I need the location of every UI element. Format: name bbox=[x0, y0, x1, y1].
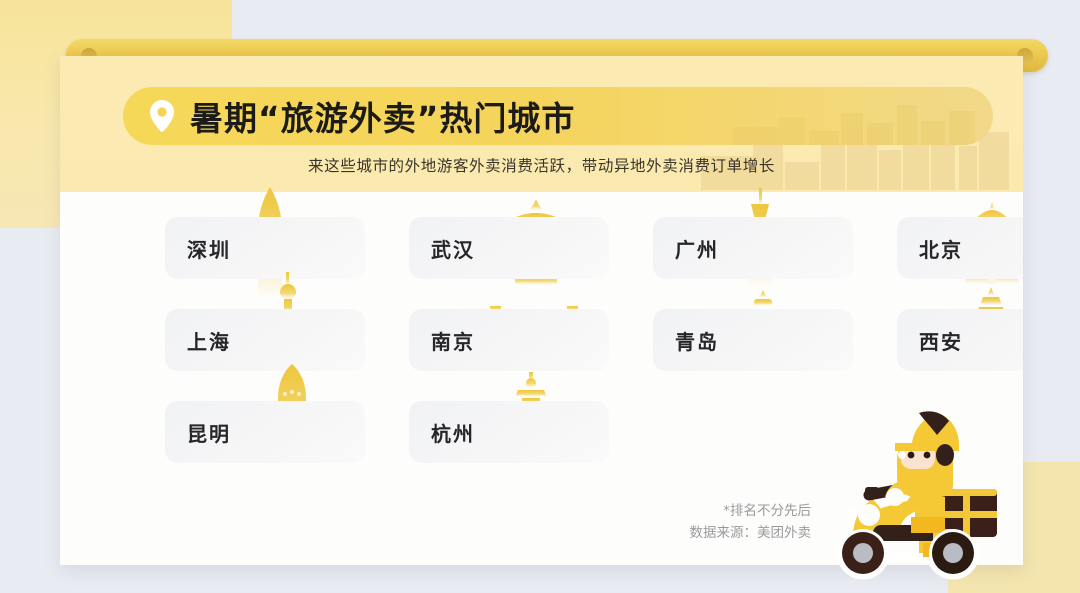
city-card[interactable]: 武汉 bbox=[409, 217, 609, 279]
map-pin-icon bbox=[150, 100, 174, 132]
city-card[interactable]: 南京 bbox=[409, 309, 609, 371]
city-card[interactable]: 广州 bbox=[653, 217, 853, 279]
city-card[interactable]: 深圳 bbox=[165, 217, 365, 279]
city-card[interactable]: 昆明 bbox=[165, 401, 365, 463]
ranking-note: *排名不分先后 bbox=[690, 500, 812, 522]
city-card[interactable]: 青岛 bbox=[653, 309, 853, 371]
title-banner: 暑期“旅游外卖”热门城市 bbox=[123, 87, 993, 145]
city-card[interactable]: 西安 bbox=[897, 309, 1023, 371]
city-name: 青岛 bbox=[675, 326, 719, 355]
city-name: 南京 bbox=[431, 326, 475, 355]
delivery-rider-scooter-illustration bbox=[823, 393, 1023, 593]
source-note: 数据来源：美团外卖 bbox=[690, 522, 812, 544]
page-title: 暑期“旅游外卖”热门城市 bbox=[190, 92, 575, 140]
city-name: 杭州 bbox=[431, 418, 475, 447]
page-subtitle: 来这些城市的外地游客外卖消费活跃，带动异地外卖消费订单增长 bbox=[60, 154, 1023, 176]
card-header: 暑期“旅游外卖”热门城市 来这些城市的外地游客外卖消费活跃，带动异地外卖消费订单… bbox=[60, 56, 1023, 192]
city-name: 北京 bbox=[919, 234, 963, 263]
city-name: 深圳 bbox=[187, 234, 231, 263]
city-name: 武汉 bbox=[431, 234, 475, 263]
city-name: 上海 bbox=[187, 326, 231, 355]
city-card[interactable]: 上海 bbox=[165, 309, 365, 371]
footnotes: *排名不分先后 数据来源：美团外卖 bbox=[690, 500, 812, 545]
city-name: 昆明 bbox=[187, 418, 231, 447]
city-card[interactable]: 北京 bbox=[897, 217, 1023, 279]
city-name: 广州 bbox=[675, 234, 719, 263]
city-name: 西安 bbox=[919, 326, 963, 355]
city-card[interactable]: 杭州 bbox=[409, 401, 609, 463]
title-skyline-icon bbox=[733, 101, 993, 145]
